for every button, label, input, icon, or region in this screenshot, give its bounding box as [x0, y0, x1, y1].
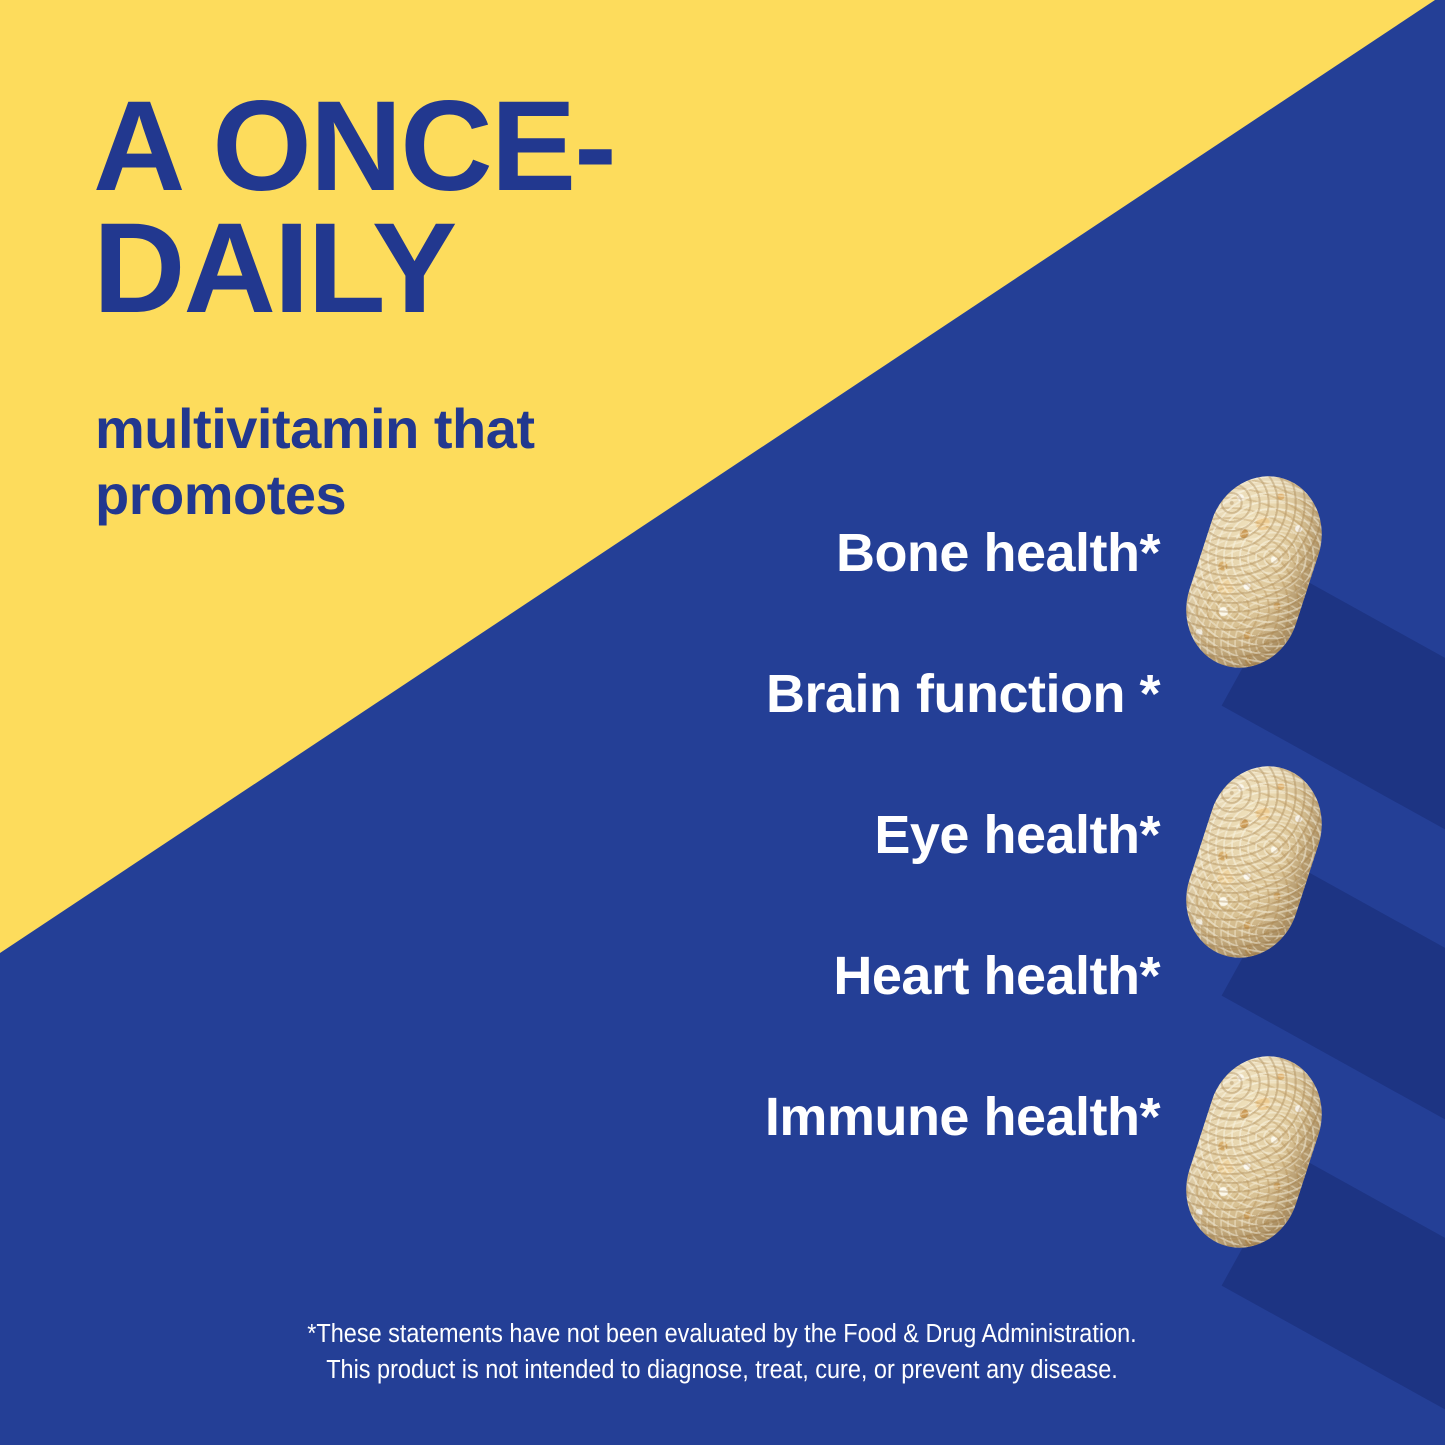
subheadline: multivitamin that promotes: [95, 396, 715, 528]
benefit-item-eye-health: Eye health*: [520, 808, 1160, 862]
fda-disclaimer-line-2: This product is not intended to diagnose…: [262, 1352, 1182, 1388]
headline-line-2: DAILY: [93, 208, 853, 330]
headline-line-1: A ONCE-: [93, 86, 853, 208]
benefit-item-bone-health: Bone health*: [520, 526, 1160, 580]
benefit-item-brain-function: Brain function *: [520, 667, 1160, 721]
fda-disclaimer: *These statements have not been evaluate…: [262, 1316, 1182, 1388]
benefit-item-immune-health: Immune health*: [520, 1090, 1160, 1144]
subheadline-line-2: promotes: [95, 462, 715, 528]
subheadline-line-1: multivitamin that: [95, 396, 715, 462]
benefit-item-heart-health: Heart health*: [520, 949, 1160, 1003]
fda-disclaimer-line-1: *These statements have not been evaluate…: [262, 1316, 1182, 1352]
benefit-list: Bone health* Brain function * Eye health…: [520, 526, 1160, 1144]
headline: A ONCE- DAILY: [93, 86, 853, 329]
product-benefit-poster: A ONCE- DAILY multivitamin that promotes…: [0, 0, 1445, 1445]
